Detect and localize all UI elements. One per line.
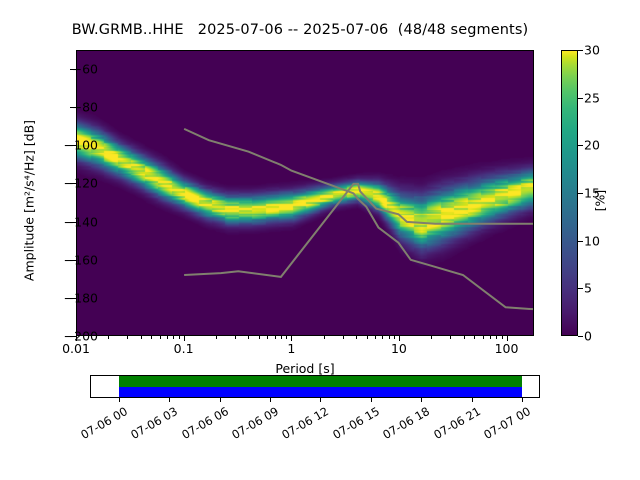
x-tick-mark-minor bbox=[502, 336, 503, 339]
y-tick-mark bbox=[70, 145, 76, 146]
timeline-tick-label: 07-06 03 bbox=[119, 404, 180, 447]
x-tick-mark-minor bbox=[281, 336, 282, 339]
colorbar-tick-mark bbox=[578, 193, 583, 194]
x-tick-mark-minor bbox=[343, 336, 344, 339]
timeline-tick-mark bbox=[270, 398, 271, 402]
timeline-tick-mark bbox=[421, 398, 422, 402]
colorbar bbox=[561, 50, 578, 336]
timeline-tick-label: 07-06 15 bbox=[321, 404, 382, 447]
colorbar-tick-mark bbox=[578, 50, 583, 51]
x-tick-mark-minor bbox=[375, 336, 376, 339]
y-tick-label: −80 bbox=[38, 100, 98, 115]
x-tick-mark-minor bbox=[179, 336, 180, 339]
x-tick-mark-minor bbox=[259, 336, 260, 339]
colorbar-tick-label: 30 bbox=[584, 43, 600, 58]
x-tick-mark-minor bbox=[496, 336, 497, 339]
y-tick-label: −120 bbox=[38, 176, 98, 191]
x-tick-mark-minor bbox=[275, 336, 276, 339]
timeline-tick-mark bbox=[371, 398, 372, 402]
timeline-tick-mark bbox=[320, 398, 321, 402]
y-tick-mark bbox=[70, 69, 76, 70]
x-tick-mark-minor bbox=[464, 336, 465, 339]
x-tick-label: 0.01 bbox=[62, 341, 90, 356]
timeline-data-bar-green bbox=[119, 376, 522, 387]
colorbar-tick-mark bbox=[578, 98, 583, 99]
x-tick-mark-minor bbox=[167, 336, 168, 339]
timeline-tick-label: 07-06 00 bbox=[69, 404, 130, 447]
colorbar-tick-mark bbox=[578, 288, 583, 289]
y-tick-mark bbox=[70, 260, 76, 261]
x-tick-mark-minor bbox=[394, 336, 395, 339]
colorbar-tick-label: 0 bbox=[584, 329, 592, 344]
nlnm-curve bbox=[184, 129, 533, 309]
ppsd-figure: BW.GRMB..HHE 2025-07-06 -- 2025-07-06 (4… bbox=[0, 0, 640, 480]
x-tick-mark-minor bbox=[235, 336, 236, 339]
x-tick-mark-minor bbox=[490, 336, 491, 339]
y-tick-label: −180 bbox=[38, 290, 98, 305]
colorbar-tick-label: 25 bbox=[584, 90, 600, 105]
x-tick-mark-minor bbox=[127, 336, 128, 339]
nhnm-curve bbox=[184, 184, 533, 277]
timeline-tick-label: 07-06 21 bbox=[422, 404, 483, 447]
x-tick-mark-minor bbox=[151, 336, 152, 339]
y-tick-mark bbox=[70, 298, 76, 299]
x-tick-mark-minor bbox=[248, 336, 249, 339]
y-tick-label: −140 bbox=[38, 214, 98, 229]
x-tick-label: 100 bbox=[495, 341, 519, 356]
y-tick-mark bbox=[70, 183, 76, 184]
y-axis-label: Amplitude [m²/s⁴/Hz] [dB] bbox=[22, 56, 37, 346]
timeline-tick-mark bbox=[119, 398, 120, 402]
x-tick-mark-minor bbox=[108, 336, 109, 339]
x-tick-label: 10 bbox=[391, 341, 407, 356]
colorbar-label: [%] bbox=[593, 141, 608, 261]
x-tick-mark-minor bbox=[267, 336, 268, 339]
x-tick-mark-minor bbox=[389, 336, 390, 339]
noise-model-curves bbox=[77, 51, 533, 336]
timeline-tick-mark bbox=[472, 398, 473, 402]
timeline-tick-mark bbox=[522, 398, 523, 402]
x-tick-label: 0.1 bbox=[174, 341, 194, 356]
x-tick-mark-minor bbox=[431, 336, 432, 339]
timeline-tick-label: 07-06 18 bbox=[371, 404, 432, 447]
y-tick-label: −160 bbox=[38, 252, 98, 267]
x-tick-mark-minor bbox=[216, 336, 217, 339]
x-tick-mark-minor bbox=[173, 336, 174, 339]
timeline-data-bar-blue bbox=[119, 387, 522, 398]
y-tick-label: −60 bbox=[38, 62, 98, 77]
x-tick-mark-minor bbox=[382, 336, 383, 339]
x-tick-mark-minor bbox=[356, 336, 357, 339]
x-tick-mark-minor bbox=[474, 336, 475, 339]
x-tick-mark-minor bbox=[367, 336, 368, 339]
timeline-tick-label: 07-06 06 bbox=[170, 404, 231, 447]
colorbar-tick-label: 5 bbox=[584, 281, 592, 296]
colorbar-tick-mark bbox=[578, 145, 583, 146]
timeline-tick-mark bbox=[169, 398, 170, 402]
timeline-tick-label: 07-07 00 bbox=[472, 404, 533, 447]
x-tick-label: 1 bbox=[287, 341, 295, 356]
y-tick-mark bbox=[70, 107, 76, 108]
x-tick-mark-minor bbox=[160, 336, 161, 339]
x-axis-label: Period [s] bbox=[76, 361, 534, 376]
y-tick-label: −100 bbox=[38, 138, 98, 153]
timeline-tick-mark bbox=[220, 398, 221, 402]
timeline-axes bbox=[90, 375, 540, 398]
ppsd-axes bbox=[76, 50, 534, 336]
x-tick-mark-minor bbox=[483, 336, 484, 339]
timeline-tick-label: 07-06 09 bbox=[220, 404, 281, 447]
x-tick-mark-minor bbox=[286, 336, 287, 339]
colorbar-tick-mark bbox=[578, 241, 583, 242]
x-tick-mark-minor bbox=[324, 336, 325, 339]
x-tick-mark-minor bbox=[450, 336, 451, 339]
plot-title: BW.GRMB..HHE 2025-07-06 -- 2025-07-06 (4… bbox=[0, 22, 600, 38]
y-tick-mark bbox=[70, 222, 76, 223]
x-tick-mark-minor bbox=[141, 336, 142, 339]
timeline-tick-label: 07-06 12 bbox=[271, 404, 332, 447]
colorbar-tick-mark bbox=[578, 336, 583, 337]
